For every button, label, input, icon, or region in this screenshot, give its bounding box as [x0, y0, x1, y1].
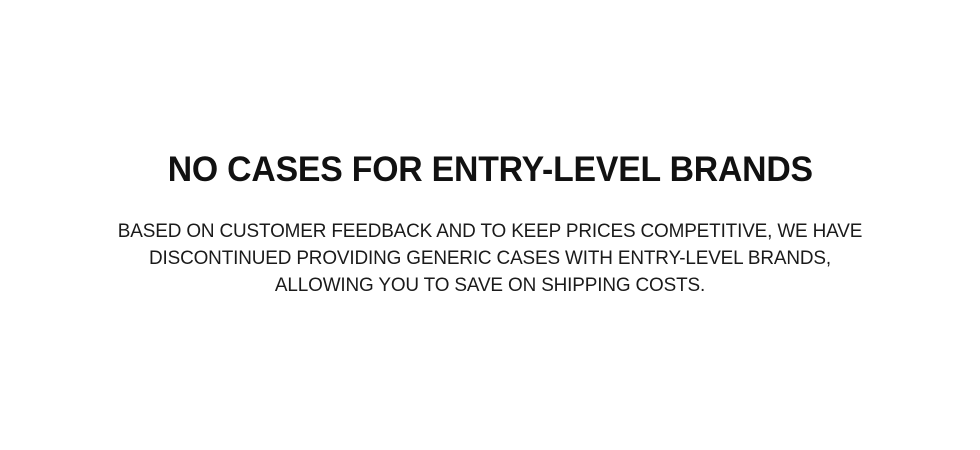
notice-section: NO CASES FOR ENTRY-LEVEL BRANDS BASED ON… [0, 0, 980, 450]
notice-content: NO CASES FOR ENTRY-LEVEL BRANDS BASED ON… [40, 152, 940, 299]
notice-heading: NO CASES FOR ENTRY-LEVEL BRANDS [167, 152, 812, 188]
notice-body-text: BASED ON CUSTOMER FEEDBACK AND TO KEEP P… [102, 218, 878, 299]
